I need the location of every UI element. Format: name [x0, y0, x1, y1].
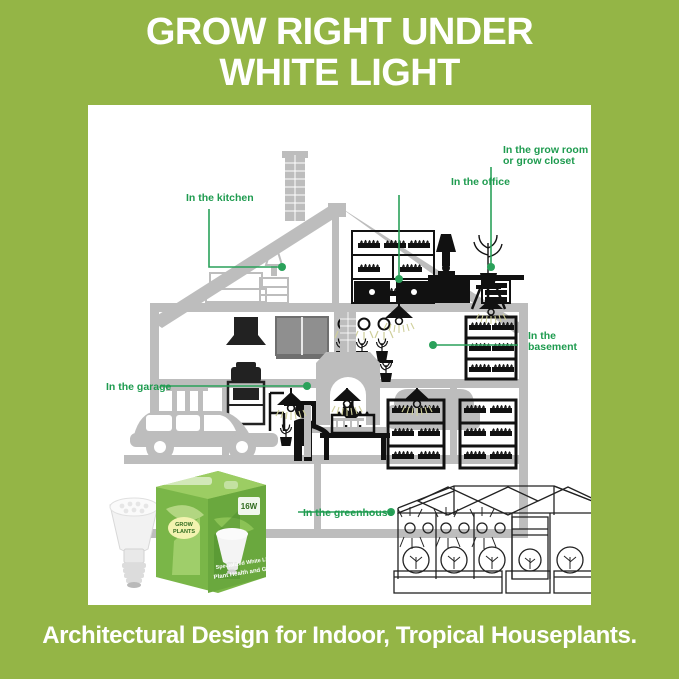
product-bulb-icon [110, 498, 158, 588]
headline-line-2: WHITE LIGHT [0, 53, 679, 94]
garage-shelf [304, 405, 311, 457]
label-office: In the office [451, 176, 510, 188]
svg-text:GROW: GROW [175, 522, 194, 528]
headline-line-1: GROW RIGHT UNDER [146, 11, 533, 53]
desk-lamp-icon [436, 234, 456, 275]
office-room [206, 231, 524, 309]
label-basement: In the basement [528, 330, 578, 353]
diagram-panel: In the kitchen In the office In the grow… [88, 105, 591, 605]
label-garage: In the garage [106, 381, 172, 393]
label-grow-room: In the grow room or grow closet [503, 144, 591, 167]
poster-root: GROW RIGHT UNDER WHITE LIGHT [0, 0, 679, 679]
product-box-icon: GROW PLANTS 16W Specialized White Light … [156, 471, 285, 593]
label-greenhouse: In the greenhouse [303, 507, 394, 519]
label-kitchen: In the kitchen [186, 192, 254, 204]
page-caption: Architectural Design for Indoor, Tropica… [0, 622, 679, 650]
wattage-badge: 16W [241, 502, 258, 511]
stove-icon [228, 362, 264, 424]
page-title: GROW RIGHT UNDER WHITE LIGHT [0, 12, 679, 94]
svg-text:PLANTS: PLANTS [173, 529, 195, 535]
grow-closet-plant [472, 235, 505, 309]
greenhouse-illustration [394, 486, 591, 593]
car-icon [130, 411, 278, 461]
grow-shelf-upper [466, 317, 516, 379]
kitchen-cabinet-icon [276, 317, 328, 359]
range-hood-icon [226, 317, 266, 345]
chimney-icon [282, 151, 308, 221]
